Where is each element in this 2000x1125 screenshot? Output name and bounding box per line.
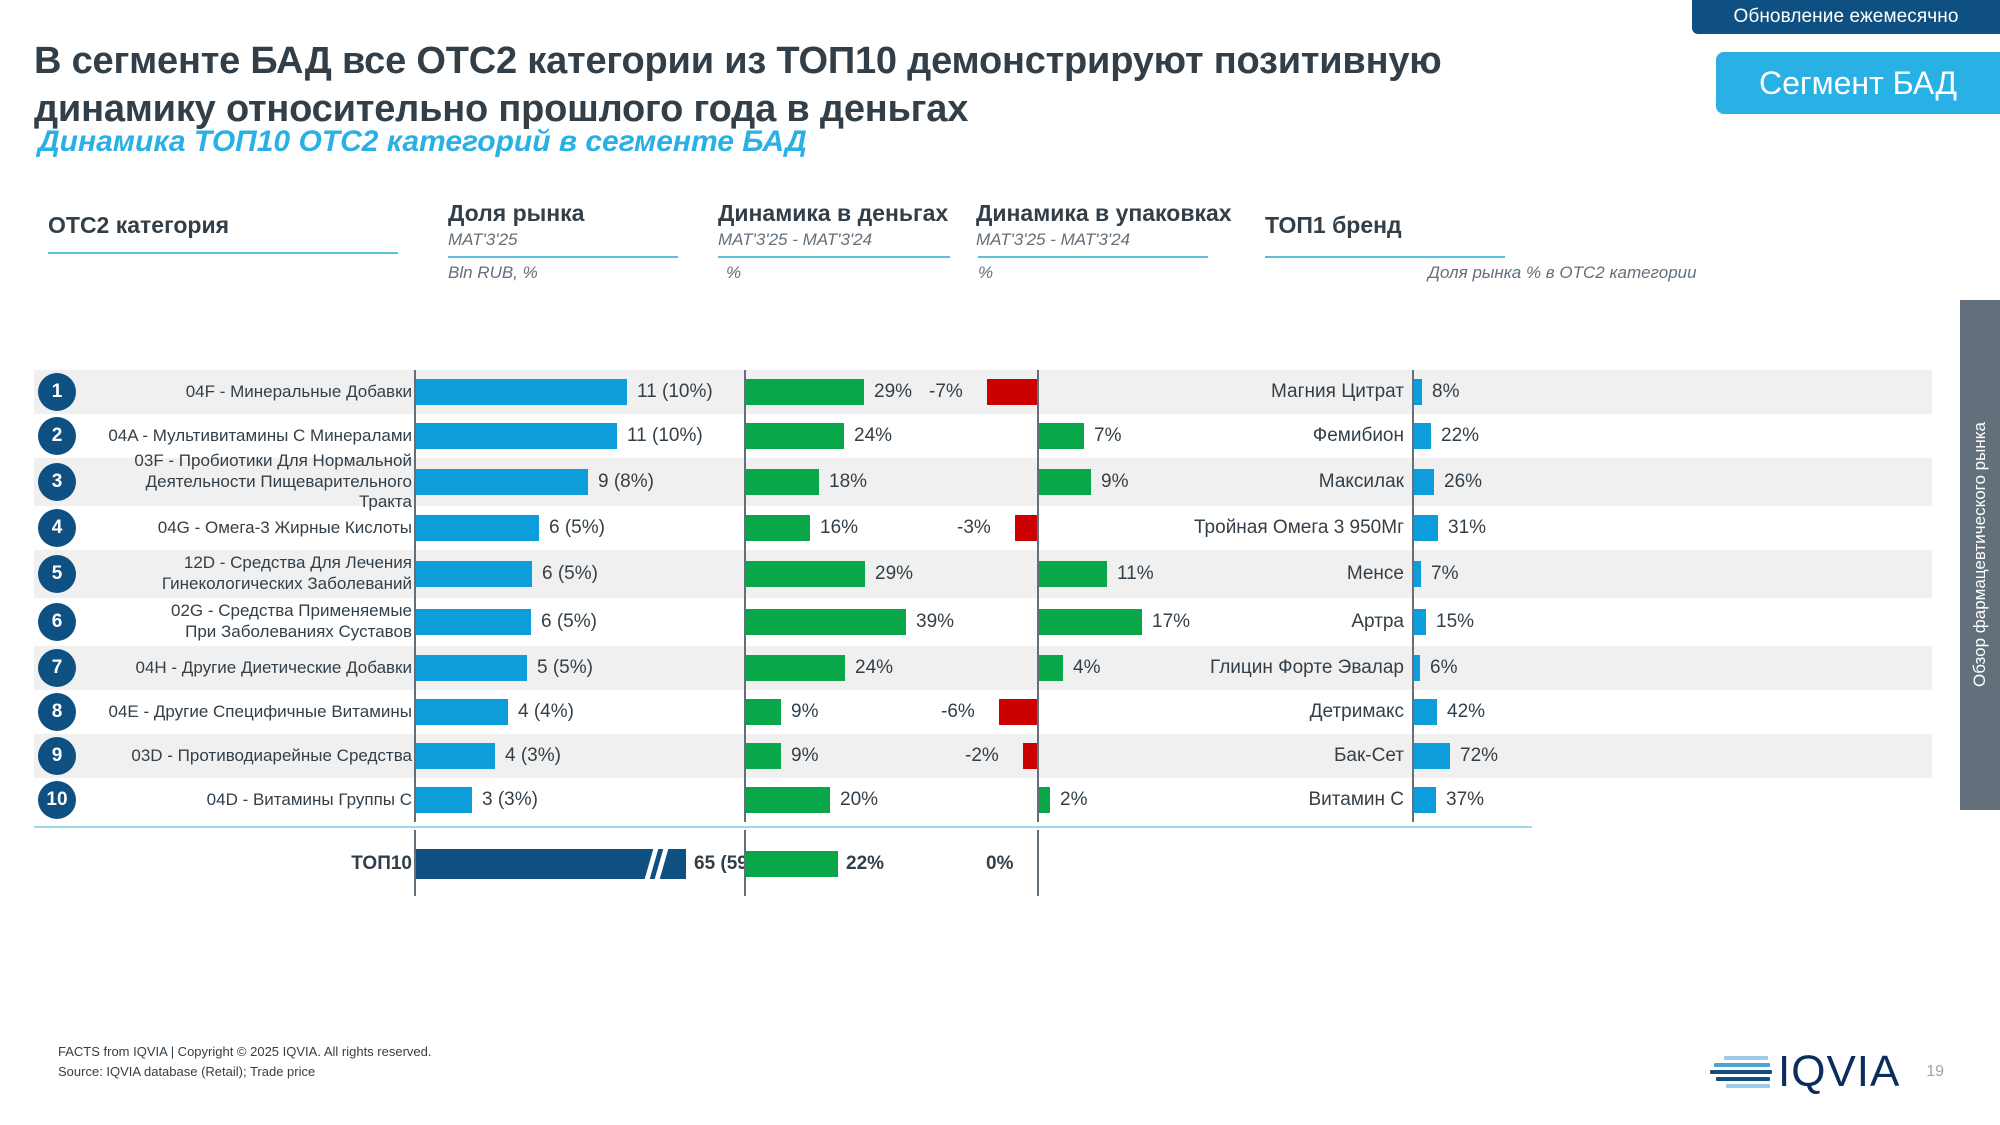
brand-share-bar: [1414, 379, 1422, 405]
rank-badge: 2: [38, 417, 76, 455]
pack-dynamics-axis: [1037, 506, 1039, 550]
total-separator: [34, 826, 1532, 828]
brand-share-bar: [1414, 743, 1450, 769]
top-brand-name: Глицин Форте Эвалар: [1174, 646, 1404, 690]
market-share-bar: [416, 743, 495, 769]
brand-share-value: 22%: [1441, 425, 1479, 447]
top-brand-name: Фемибион: [1174, 414, 1404, 458]
section-rail-label: Обзор фармацевтического рынка: [1970, 422, 1990, 687]
update-frequency-badge: Обновление ежемесячно: [1692, 0, 2000, 34]
market-share-bar: [416, 561, 532, 587]
col-unit-money-dynamics: %: [726, 263, 741, 283]
col-header-category: ОТС2 категория: [48, 212, 229, 239]
segment-badge: Сегмент БАД: [1716, 52, 2000, 114]
slide-root: Обновление ежемесячно Сегмент БАД В сегм…: [0, 0, 2000, 1125]
pack-dynamics-bar: [1039, 655, 1063, 681]
pack-dynamics-bar: [1039, 469, 1091, 495]
top-brand-name: Детримакс: [1174, 690, 1404, 734]
brand-share-bar: [1414, 515, 1438, 541]
money-dynamics-value: 20%: [840, 789, 878, 811]
money-dynamics-value: 18%: [829, 471, 867, 493]
market-share-value: 4 (4%): [518, 701, 574, 723]
pack-dynamics-value: -2%: [965, 745, 999, 767]
category-name: 04G - Омега-3 Жирные Кислоты: [94, 506, 412, 550]
pack-dynamics-bar: [987, 379, 1037, 405]
market-share-bar: [416, 469, 588, 495]
col-header-category-title: ОТС2 категория: [48, 212, 229, 239]
category-name: 03D - Противодиарейные Средства: [94, 734, 412, 778]
money-dynamics-bar: [746, 515, 810, 541]
table-row[interactable]: 303F - Пробиотики Для НормальнойДеятельн…: [34, 458, 1932, 506]
market-share-bar: [416, 379, 627, 405]
col-header-money-dynamics-title: Динамика в деньгах: [718, 200, 948, 227]
page-subtitle: Динамика ТОП10 ОТС2 категорий в сегменте…: [38, 125, 1338, 159]
table-row[interactable]: 1004D - Витамины Группы С3 (3%)20%2%Вита…: [34, 778, 1932, 822]
rank-badge: 9: [38, 737, 76, 775]
total-label: ТОП10: [94, 838, 412, 890]
pack-dynamics-value: 4%: [1073, 657, 1100, 679]
top-brand-name: Менсе: [1174, 550, 1404, 598]
col-header-pack-dynamics-period: MAT'3'25 - MAT'3'24: [976, 230, 1232, 250]
brand-share-value: 26%: [1444, 471, 1482, 493]
total-axis-pack: [1037, 830, 1039, 896]
top-brand-name: Тройная Омега 3 950Мг: [1174, 506, 1404, 550]
table-row[interactable]: 804E - Другие Специфичные Витамины4 (4%)…: [34, 690, 1932, 734]
col-header-money-dynamics: Динамика в деньгах MAT'3'25 - MAT'3'24: [718, 200, 948, 250]
money-dynamics-value: 29%: [874, 381, 912, 403]
money-dynamics-bar: [746, 469, 819, 495]
data-table: 104F - Минеральные Добавки11 (10%)29%-7%…: [34, 370, 1932, 822]
market-share-value: 6 (5%): [549, 517, 605, 539]
market-share-value: 5 (5%): [537, 657, 593, 679]
col-header-pack-dynamics: Динамика в упаковках MAT'3'25 - MAT'3'24: [976, 200, 1232, 250]
money-dynamics-bar: [746, 655, 845, 681]
rank-badge: 6: [38, 603, 76, 641]
pack-dynamics-value: -3%: [957, 517, 991, 539]
table-row[interactable]: 704H - Другие Диетические Добавки5 (5%)2…: [34, 646, 1932, 690]
money-dynamics-bar: [746, 743, 781, 769]
brand-share-value: 72%: [1460, 745, 1498, 767]
logo-wordmark: IQVIA: [1778, 1050, 1900, 1094]
col-unit-pack-dynamics: %: [978, 263, 993, 283]
money-dynamics-bar: [746, 379, 864, 405]
axis-break-icon: [644, 842, 670, 886]
pack-dynamics-bar: [1039, 423, 1084, 449]
market-share-value: 3 (3%): [482, 789, 538, 811]
money-dynamics-value: 29%: [875, 563, 913, 585]
brand-share-value: 37%: [1446, 789, 1484, 811]
col-header-market-share-period: MAT'3'25: [448, 230, 584, 250]
market-share-value: 4 (3%): [505, 745, 561, 767]
rule-top-brand: [1265, 256, 1505, 258]
money-dynamics-value: 16%: [820, 517, 858, 539]
col-header-money-dynamics-period: MAT'3'25 - MAT'3'24: [718, 230, 948, 250]
market-share-bar: [416, 699, 508, 725]
brand-share-bar: [1414, 561, 1421, 587]
top-brand-name: Максилак: [1174, 458, 1404, 506]
pack-dynamics-value: 11%: [1117, 563, 1154, 585]
market-share-bar: [416, 609, 531, 635]
total-money-label: 22%: [846, 853, 884, 875]
market-share-bar: [416, 655, 527, 681]
money-dynamics-bar: [746, 561, 865, 587]
brand-share-bar: [1414, 423, 1431, 449]
brand-share-bar: [1414, 787, 1436, 813]
table-row[interactable]: 602G - Средства ПрименяемыеПри Заболеван…: [34, 598, 1932, 646]
logo-bars-icon: [1710, 1056, 1772, 1088]
pack-dynamics-bar: [1023, 743, 1037, 769]
footer-source: Source: IQVIA database (Retail); Trade p…: [58, 1062, 431, 1082]
top-brand-name: Бак-Сет: [1174, 734, 1404, 778]
money-dynamics-value: 24%: [855, 657, 893, 679]
rank-badge: 8: [38, 693, 76, 731]
rule-money-dynamics: [718, 256, 950, 258]
col-header-top-brand-title: ТОП1 бренд: [1265, 212, 1402, 239]
rank-badge: 3: [38, 463, 76, 501]
brand-share-value: 15%: [1436, 611, 1474, 633]
pack-dynamics-value: 2%: [1060, 789, 1087, 811]
col-header-top-brand: ТОП1 бренд: [1265, 212, 1402, 239]
rule-market-share: [448, 256, 678, 258]
col-unit-market-share: Bln RUB, %: [448, 263, 538, 283]
page-number: 19: [1926, 1063, 1944, 1081]
top-brand-name: Магния Цитрат: [1174, 370, 1404, 414]
market-share-bar: [416, 423, 617, 449]
market-share-bar: [416, 787, 472, 813]
rank-badge: 5: [38, 555, 76, 593]
money-dynamics-bar: [746, 423, 844, 449]
category-name: 03F - Пробиотики Для НормальнойДеятельно…: [94, 458, 412, 506]
pack-dynamics-bar: [1015, 515, 1037, 541]
rank-badge: 1: [38, 373, 76, 411]
category-name: 02G - Средства ПрименяемыеПри Заболевани…: [94, 598, 412, 646]
pack-dynamics-bar: [999, 699, 1037, 725]
pack-dynamics-axis: [1037, 734, 1039, 778]
pack-dynamics-value: 7%: [1094, 425, 1121, 447]
brand-share-value: 8%: [1432, 381, 1459, 403]
table-row[interactable]: 104F - Минеральные Добавки11 (10%)29%-7%…: [34, 370, 1932, 414]
money-dynamics-value: 9%: [791, 701, 818, 723]
pack-dynamics-bar: [1039, 609, 1142, 635]
brand-share-bar: [1414, 699, 1437, 725]
brand-share-value: 7%: [1431, 563, 1458, 585]
brand-share-bar: [1414, 655, 1420, 681]
footer-copyright: FACTS from IQVIA | Copyright © 2025 IQVI…: [58, 1042, 431, 1062]
rank-badge: 10: [38, 781, 76, 819]
footer: FACTS from IQVIA | Copyright © 2025 IQVI…: [58, 1042, 431, 1081]
category-name: 04D - Витамины Группы С: [94, 778, 412, 822]
iqvia-logo: IQVIA: [1710, 1050, 1900, 1094]
col-header-pack-dynamics-title: Динамика в упаковках: [976, 200, 1232, 227]
money-dynamics-bar: [746, 787, 830, 813]
brand-share-bar: [1414, 609, 1426, 635]
market-share-value: 9 (8%): [598, 471, 654, 493]
pack-dynamics-axis: [1037, 690, 1039, 734]
pack-dynamics-bar: [1039, 561, 1107, 587]
category-name: 12D - Средства Для ЛеченияГинекологическ…: [94, 550, 412, 598]
category-name: 04H - Другие Диетические Добавки: [94, 646, 412, 690]
col-header-market-share-title: Доля рынка: [448, 200, 584, 227]
table-row[interactable]: 903D - Противодиарейные Средства4 (3%)9%…: [34, 734, 1932, 778]
col-header-market-share: Доля рынка MAT'3'25: [448, 200, 584, 250]
top-brand-name: Витамин С: [1174, 778, 1404, 822]
total-pack-label: 0%: [986, 853, 1013, 875]
market-share-value: 11 (10%): [627, 425, 703, 447]
pack-dynamics-value: -7%: [929, 381, 963, 403]
money-dynamics-value: 9%: [791, 745, 818, 767]
col-unit-top-brand: Доля рынка % в ОТС2 категории: [1428, 263, 1697, 283]
pack-dynamics-value: -6%: [941, 701, 975, 723]
rule-category: [48, 252, 398, 254]
money-dynamics-bar: [746, 609, 906, 635]
rank-badge: 4: [38, 509, 76, 547]
total-money-bar: [746, 851, 838, 877]
top-brand-name: Артра: [1174, 598, 1404, 646]
brand-share-bar: [1414, 469, 1434, 495]
page-title: В сегменте БАД все ОТС2 категории из ТОП…: [34, 38, 1534, 133]
market-share-bar: [416, 515, 539, 541]
money-dynamics-value: 24%: [854, 425, 892, 447]
market-share-value: 6 (5%): [541, 611, 597, 633]
pack-dynamics-value: 9%: [1101, 471, 1128, 493]
market-share-value: 6 (5%): [542, 563, 598, 585]
pack-dynamics-bar: [1039, 787, 1050, 813]
section-rail: Обзор фармацевтического рынка: [1960, 300, 2000, 810]
table-row[interactable]: 404G - Омега-3 Жирные Кислоты6 (5%)16%-3…: [34, 506, 1932, 550]
market-share-value: 11 (10%): [637, 381, 713, 403]
money-dynamics-value: 39%: [916, 611, 954, 633]
rule-pack-dynamics: [978, 256, 1208, 258]
total-row: ТОП10 65 (59%) 22% 0%: [34, 838, 1932, 890]
pack-dynamics-axis: [1037, 370, 1039, 414]
category-name: 04F - Минеральные Добавки: [94, 370, 412, 414]
rank-badge: 7: [38, 649, 76, 687]
money-dynamics-bar: [746, 699, 781, 725]
brand-share-value: 6%: [1430, 657, 1457, 679]
category-name: 04E - Другие Специфичные Витамины: [94, 690, 412, 734]
table-row[interactable]: 512D - Средства Для ЛеченияГинекологичес…: [34, 550, 1932, 598]
brand-share-value: 31%: [1448, 517, 1486, 539]
brand-share-value: 42%: [1447, 701, 1485, 723]
